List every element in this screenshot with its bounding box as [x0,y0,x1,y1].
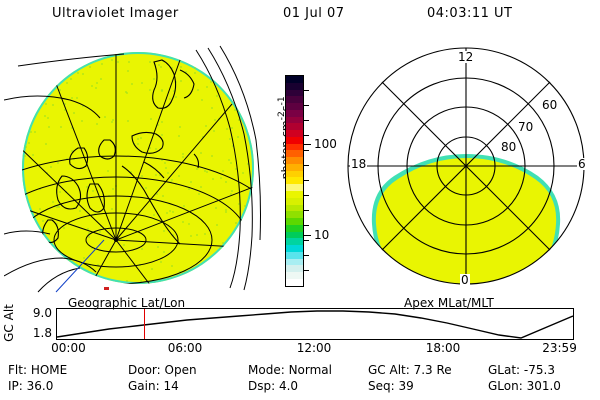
geographic-globe-panel [4,44,262,296]
colorbar-segment [286,238,303,245]
telemetry-field: Mode: Normal [248,363,332,377]
orbit-x-tick-label: 18:00 [426,341,461,355]
mlat-label-70: 70 [517,121,534,133]
colorbar-panel: photon cm-2s-1 10010 [262,70,338,294]
colorbar-minor-tick [303,105,309,106]
telemetry-field: Door: Open [128,363,197,377]
orbit-x-tick-label: 12:00 [297,341,332,355]
telemetry-label: Dsp: [248,379,279,393]
colorbar-segment [286,205,303,212]
colorbar-major-tick [303,235,311,236]
apex-polar-panel: 12 6 0 18 60 70 80 [336,42,596,298]
orbit-x-tick-label: 23:59 [542,341,577,355]
colorbar-segment [286,211,303,218]
observation-date: 01 Jul 07 [283,6,345,21]
telemetry-label: GLon: [488,379,527,393]
globe-overlay [4,44,262,296]
orbit-y-tick-label: 9.0 [33,307,52,319]
colorbar-minor-tick [303,255,309,256]
colorbar-major-tick [303,144,311,145]
uvi-display: Ultraviolet Imager 01 Jul 07 04:03:11 UT [0,0,600,400]
telemetry-value: HOME [31,363,67,377]
telemetry-row-1: Flt: HOMEDoor: OpenMode: NormalGC Alt: 7… [0,363,600,379]
orbit-trace [57,309,573,339]
telemetry-field: GLon: 301.0 [488,379,561,393]
mlt-label-6: 6 [577,158,587,170]
colorbar-segment [286,96,303,103]
current-time-marker [144,309,145,339]
colorbar-segment [286,150,303,157]
telemetry-field: Seq: 39 [368,379,414,393]
telemetry-label: GC Alt: [368,363,414,377]
mlt-label-0: 0 [460,274,470,286]
colorbar-minor-tick [303,165,309,166]
colorbar-segment [286,130,303,137]
telemetry-value: 7.3 Re [414,363,452,377]
orbit-x-tick-label: 00:00 [51,341,86,355]
colorbar-minor-tick [303,270,309,271]
telemetry-value: Normal [289,363,332,377]
telemetry-label: Gain: [128,379,163,393]
telemetry-row-2: IP: 36.0Gain: 14Dsp: 4.0Seq: 39GLon: 301… [0,379,600,395]
orbit-y-tick-label: 1.8 [33,327,52,339]
colorbar-segment [286,177,303,184]
mlt-label-18: 18 [350,158,367,170]
colorbar-segment [286,103,303,110]
colorbar-segment [286,191,303,198]
colorbar-segment [286,164,303,171]
telemetry-field: GC Alt: 7.3 Re [368,363,452,377]
colorbar-segment [286,232,303,239]
polar-plot [336,42,596,298]
colorbar-segment [286,144,303,151]
colorbar-segment [286,259,303,266]
colorbar-segment [286,252,303,259]
colorbar-segment [286,265,303,272]
colorbar-segment [286,198,303,205]
colorbar-segment [286,225,303,232]
telemetry-value: Open [165,363,197,377]
telemetry-field: GLat: -75.3 [488,363,555,377]
colorbar-segment [286,184,303,191]
colorbar-minor-tick [303,135,309,136]
colorbar-segment [286,245,303,252]
telemetry-label: GLat: [488,363,524,377]
telemetry-field: Gain: 14 [128,379,179,393]
colorbar-minor-tick [303,150,309,151]
colorbar-segment [286,171,303,178]
colorbar-tick-label: 10 [314,229,329,241]
colorbar-segment [286,218,303,225]
instrument-title: Ultraviolet Imager [52,6,179,21]
telemetry-field: Flt: HOME [8,363,67,377]
colorbar-segment [286,110,303,117]
colorbar-minor-tick [303,210,309,211]
telemetry-value: -75.3 [524,363,555,377]
colorbar-segment [286,157,303,164]
telemetry-value: 39 [398,379,413,393]
colorbar-segment [286,83,303,90]
telemetry-value: 301.0 [527,379,561,393]
telemetry-label: Seq: [368,379,398,393]
colorbar-minor-tick [303,195,309,196]
colorbar-segment [286,137,303,144]
colorbar-minor-tick [303,90,309,91]
colorbar-segment [286,76,303,83]
colorbar-gradient [285,75,304,287]
colorbar-segment [286,272,303,279]
colorbar-segment [286,117,303,124]
mlt-label-12: 12 [457,51,474,63]
telemetry-field: Dsp: 4.0 [248,379,298,393]
telemetry-label: IP: [8,379,27,393]
colorbar-minor-tick [303,120,309,121]
telemetry-label: Mode: [248,363,289,377]
telemetry-value: 14 [163,379,178,393]
telemetry-label: Flt: [8,363,31,377]
mlat-label-60: 60 [541,99,558,111]
telemetry-footer: Flt: HOMEDoor: OpenMode: NormalGC Alt: 7… [0,363,600,399]
colorbar-tick-label: 100 [314,138,337,150]
observation-time: 04:03:11 UT [427,6,512,21]
telemetry-label: Door: [128,363,165,377]
colorbar-segment [286,123,303,130]
telemetry-value: 4.0 [279,379,298,393]
telemetry-value: 36.0 [27,379,54,393]
telemetry-field: IP: 36.0 [8,379,53,393]
colorbar-segment [286,90,303,97]
orbit-altitude-plot [56,308,574,340]
orbit-x-tick-label: 06:00 [168,341,203,355]
colorbar-minor-tick [303,180,309,181]
colorbar-minor-tick [303,240,309,241]
colorbar-segment [286,279,303,286]
mlat-label-80: 80 [500,141,517,153]
colorbar-minor-tick [303,225,309,226]
